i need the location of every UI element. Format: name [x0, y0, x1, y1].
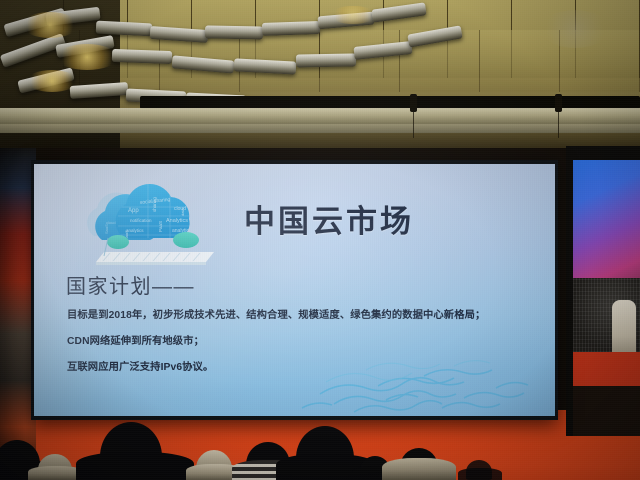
cloud-accent-blob — [107, 235, 129, 249]
side-audience-figure — [612, 300, 636, 360]
svg-text:App: App — [128, 208, 139, 214]
audience-shoulders — [382, 458, 456, 480]
audience-row — [0, 390, 640, 480]
svg-text:notification: notification — [130, 218, 152, 223]
ceiling-stem — [555, 94, 562, 112]
ceiling-light-glow — [26, 70, 78, 92]
svg-text:PaaS: PaaS — [158, 221, 163, 232]
keyboard-base — [96, 252, 214, 265]
ceiling-light-glow — [56, 44, 118, 70]
ceiling-wire — [413, 112, 414, 138]
slide-title: 中国云市场 — [244, 196, 414, 241]
presentation-slide[interactable]: social sharing App sharing cloud notific… — [34, 164, 555, 416]
ceiling-spot — [540, 10, 610, 48]
conference-photo: social sharing App sharing cloud notific… — [0, 0, 640, 480]
side-backdrop-red — [573, 352, 640, 386]
ceiling-reflector-blade — [205, 25, 263, 39]
cloud-accent-blob — [173, 232, 199, 248]
ceiling-reflector-blade — [262, 21, 320, 36]
side-display-screen — [573, 160, 640, 278]
slide-body-line: 目标是到2018年，初步形成技术先进、结构合理、规模适度、绿色集约的数据中心新格… — [67, 309, 527, 322]
svg-text:Analytics: Analytics — [166, 218, 188, 224]
svg-text:sharing: sharing — [152, 197, 157, 212]
ceiling-reflector-blade — [112, 49, 172, 64]
ceiling-wire — [558, 112, 559, 138]
ceiling-stem — [410, 94, 417, 112]
ceiling-beam — [0, 124, 640, 133]
ceiling-light-glow — [22, 12, 78, 38]
ceiling-beam — [0, 108, 640, 124]
svg-text:SaaS: SaaS — [104, 224, 109, 234]
cloud-illustration: social sharing App sharing cloud notific… — [78, 176, 226, 276]
svg-text:data: data — [180, 207, 185, 216]
hall-ceiling — [0, 0, 640, 150]
audience-shoulders — [458, 468, 502, 480]
ceiling-reflector-blade — [296, 53, 356, 67]
audience-shoulders — [76, 452, 194, 480]
slide-subtitle: 国家计划—— — [66, 270, 195, 299]
ceiling-light-glow — [330, 6, 376, 24]
